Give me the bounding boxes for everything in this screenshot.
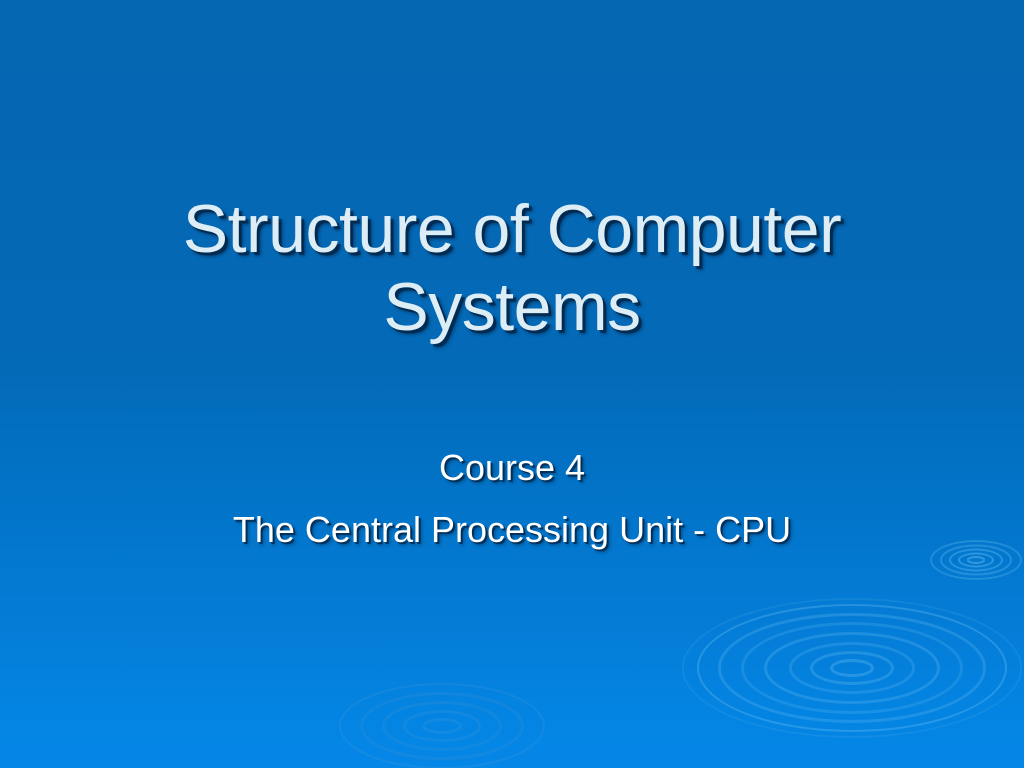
subtitle-line-course: Course 4 <box>112 444 912 491</box>
presentation-slide: Structure of Computer Systems Course 4 T… <box>0 0 1024 768</box>
slide-text-area: Structure of Computer Systems Course 4 T… <box>0 0 1024 768</box>
slide-title: Structure of Computer Systems <box>72 190 952 346</box>
slide-subtitle: Course 4 The Central Processing Unit - C… <box>112 444 912 553</box>
subtitle-line-topic: The Central Processing Unit - CPU <box>112 506 912 553</box>
